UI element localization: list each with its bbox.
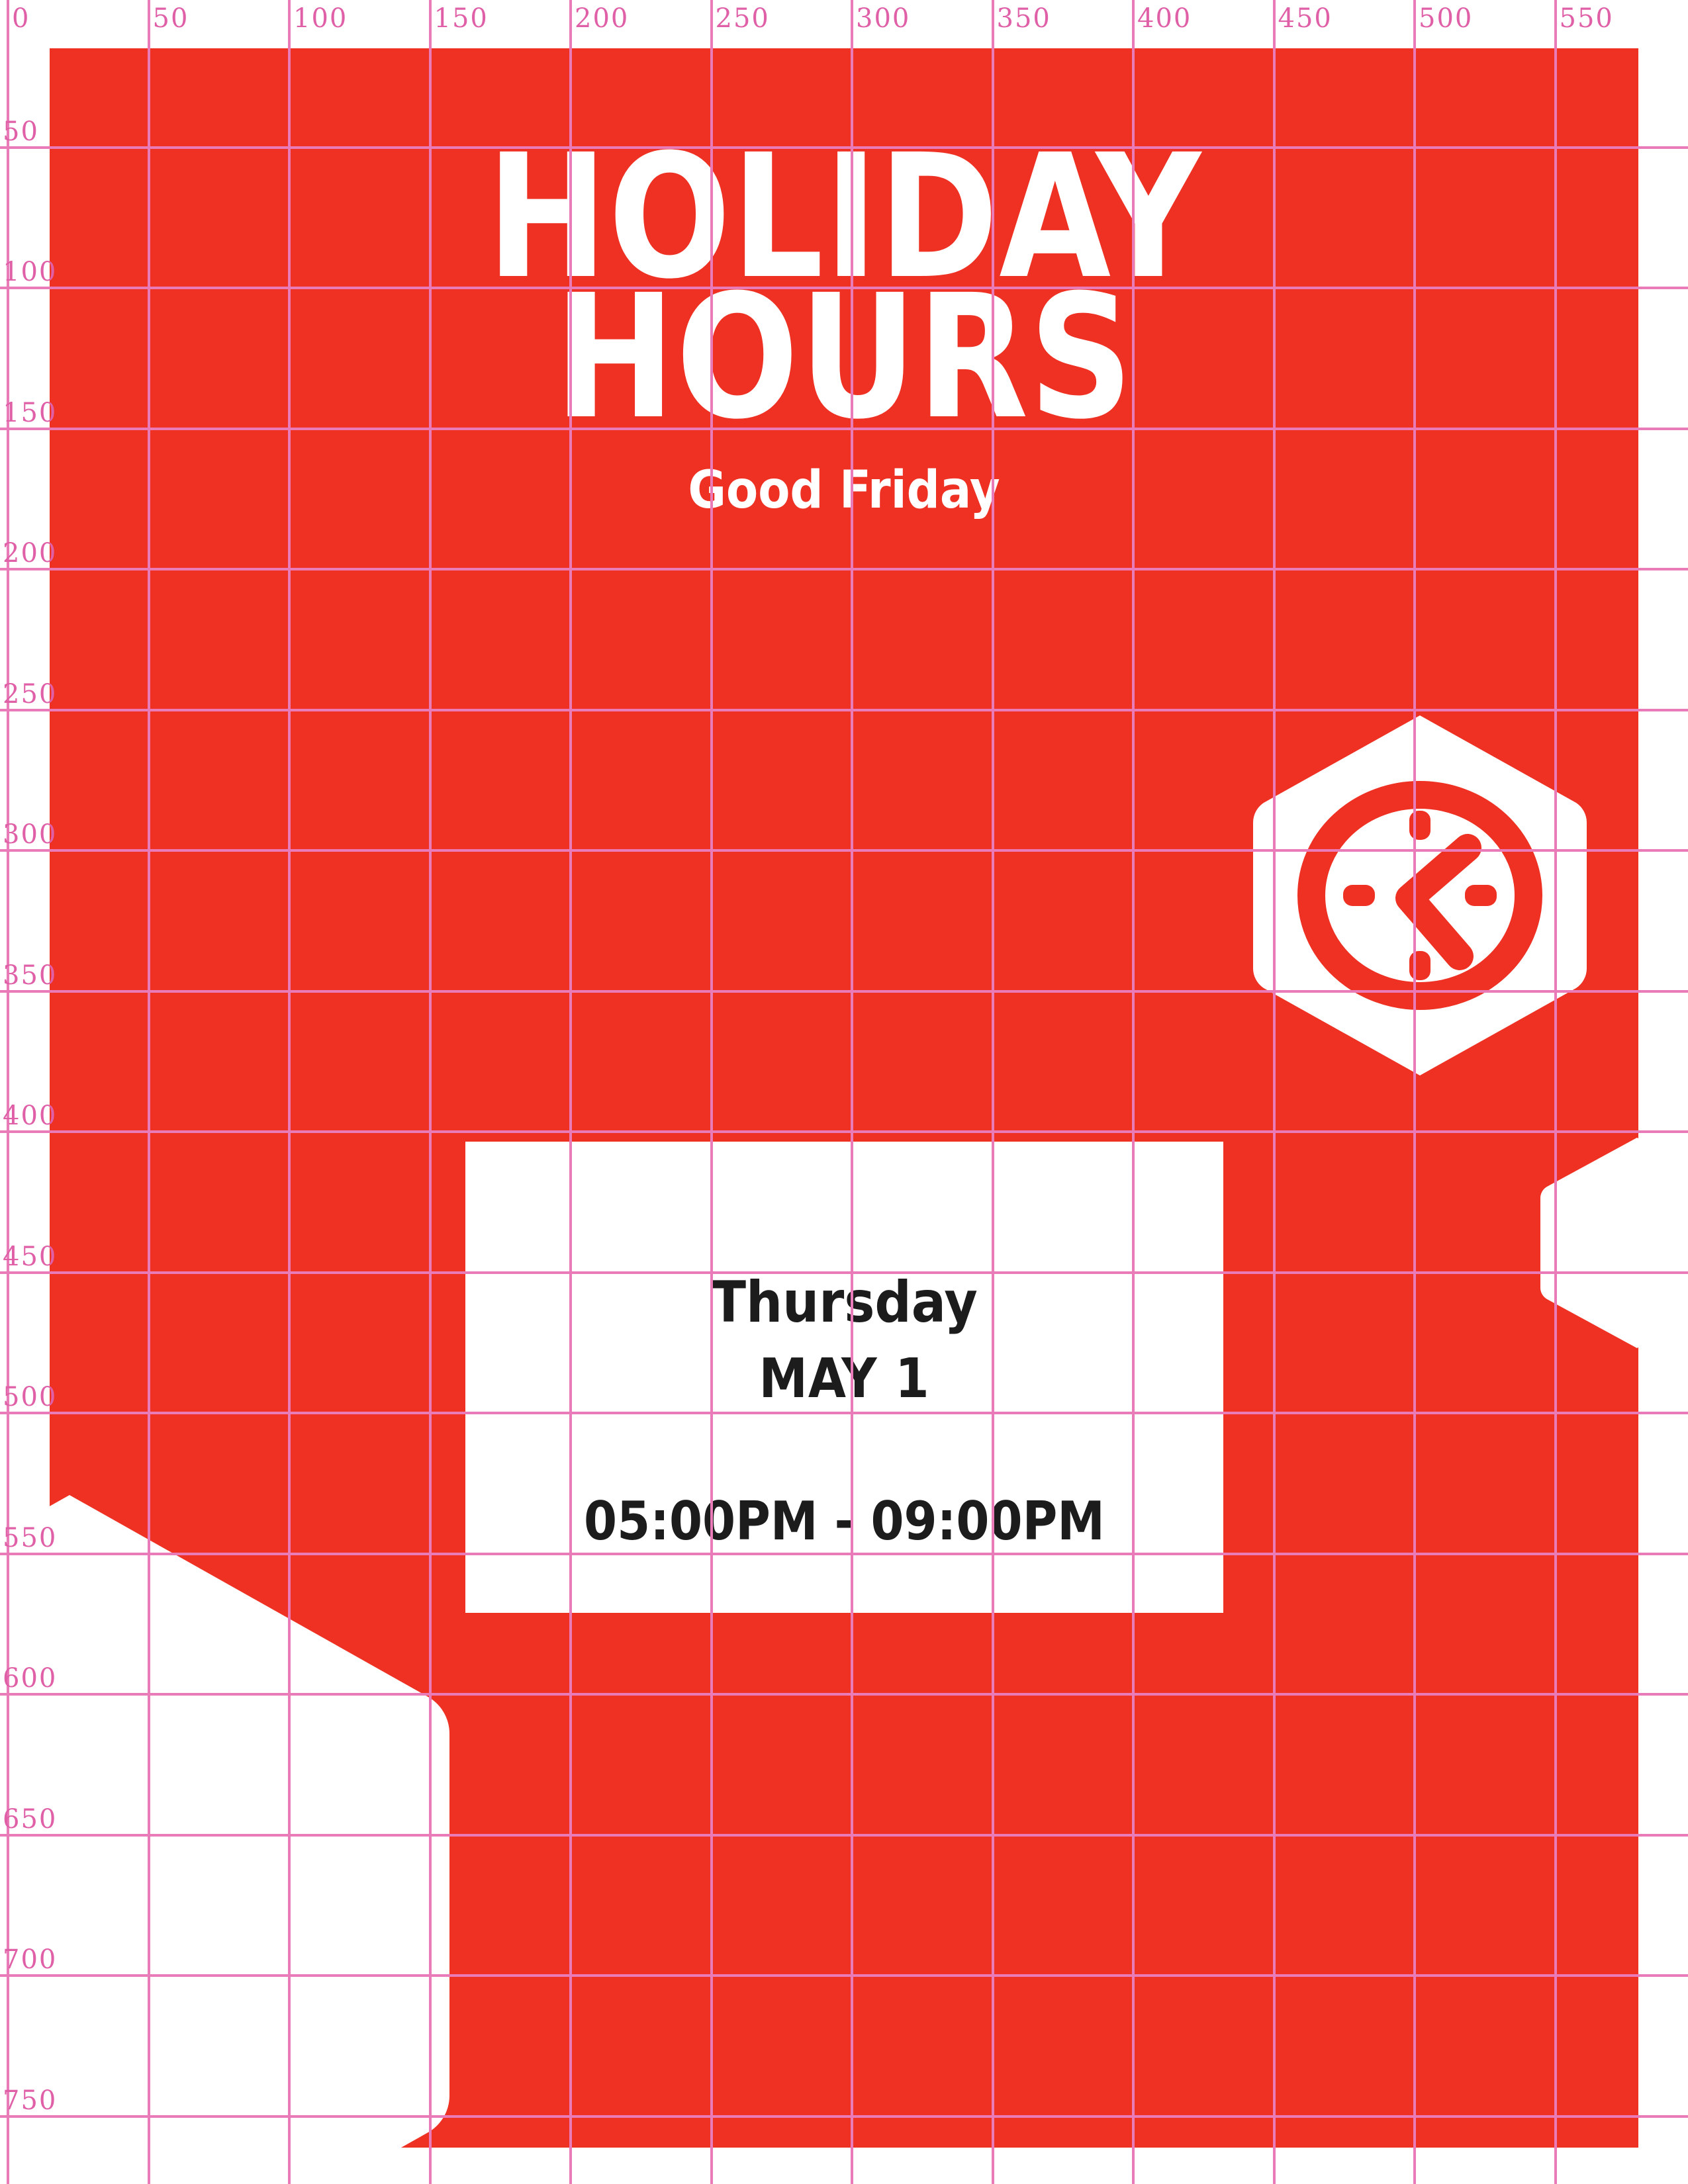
poster-artboard: HOLIDAY HOURS Good Friday <box>50 48 1638 2148</box>
hexagon-bottom-left <box>50 1484 460 2148</box>
grid-tick-label-x: 450 <box>1278 5 1333 32</box>
grid-tick-label-y: 650 <box>3 1806 57 1833</box>
grid-tick-label-y: 300 <box>3 821 57 848</box>
clock-hexagon-badge <box>1248 710 1592 1081</box>
gridline-vertical <box>7 0 9 2184</box>
grid-tick-label-x: 250 <box>716 5 770 32</box>
grid-tick-label-y: 150 <box>3 400 57 426</box>
clock-icon <box>1311 795 1528 996</box>
grid-tick-label-x: 50 <box>153 5 189 32</box>
schedule-date: MAY 1 <box>465 1352 1223 1406</box>
grid-tick-label-y: 600 <box>3 1665 57 1692</box>
schedule-info-card: Thursday MAY 1 05:00PM - 09:00PM <box>465 1142 1223 1613</box>
poster-subtitle: Good Friday <box>50 465 1638 516</box>
schedule-time-range: 05:00PM - 09:00PM <box>465 1495 1223 1548</box>
grid-tick-label-y: 500 <box>3 1384 57 1410</box>
grid-tick-label-x: 0 <box>12 5 30 32</box>
schedule-day: Thursday <box>465 1274 1223 1331</box>
schedule-info-inner: Thursday MAY 1 05:00PM - 09:00PM <box>465 1142 1223 1613</box>
headline-block: HOLIDAY HOURS Good Friday <box>50 148 1638 516</box>
grid-tick-label-x: 350 <box>997 5 1051 32</box>
headline-line-2: HOURS <box>97 288 1591 428</box>
grid-tick-label-y: 250 <box>3 681 57 707</box>
grid-tick-label-y: 450 <box>3 1244 57 1270</box>
grid-tick-label-y: 700 <box>3 1946 57 1973</box>
grid-tick-label-x: 300 <box>856 5 910 32</box>
grid-tick-label-y: 750 <box>3 2087 57 2114</box>
grid-tick-label-x: 100 <box>293 5 348 32</box>
grid-tick-label-x: 150 <box>434 5 489 32</box>
grid-tick-label-x: 400 <box>1137 5 1192 32</box>
grid-tick-label-x: 200 <box>575 5 629 32</box>
grid-tick-label-y: 350 <box>3 962 57 989</box>
grid-tick-label-y: 200 <box>3 540 57 567</box>
grid-tick-label-y: 400 <box>3 1103 57 1129</box>
grid-tick-label-y: 550 <box>3 1525 57 1551</box>
grid-tick-label-y: 100 <box>3 259 57 285</box>
grid-tick-label-y: 50 <box>3 118 39 145</box>
hexagon-right-edge <box>1538 1134 1638 1352</box>
grid-tick-label-x: 550 <box>1560 5 1614 32</box>
screenshot-canvas: HOLIDAY HOURS Good Friday <box>0 0 1688 2184</box>
grid-tick-label-x: 500 <box>1419 5 1473 32</box>
